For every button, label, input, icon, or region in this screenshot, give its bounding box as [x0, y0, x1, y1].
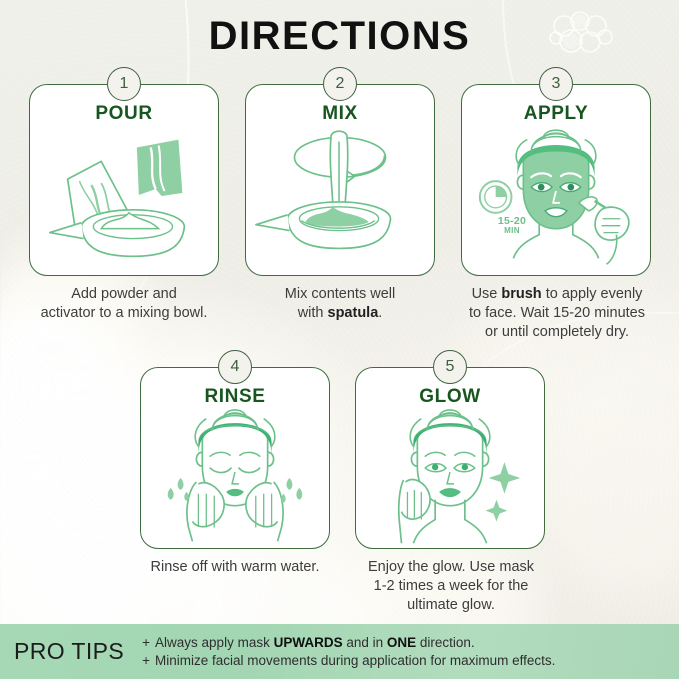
caption-line: Mix contents well — [285, 286, 395, 302]
caption-line: Add powder and — [71, 286, 177, 302]
caption-bold-brush: brush — [501, 286, 541, 302]
plus-icon: + — [142, 635, 150, 650]
step-card-mix[interactable]: MIX — [245, 84, 435, 276]
step-card-apply[interactable]: APPLY — [461, 84, 651, 276]
pour-powder-into-bowl-icon — [30, 123, 218, 263]
step-caption-apply: Use brush to apply evenly to face. Wait … — [451, 285, 663, 342]
step-title-pour: POUR — [30, 103, 218, 125]
tip-bold-upwards: UPWARDS — [274, 635, 343, 650]
step-badge-2: 2 — [323, 67, 357, 101]
step-card-glow[interactable]: GLOW — [355, 367, 545, 549]
pro-tips-bar: PRO TIPS +Always apply mask UPWARDS and … — [0, 624, 679, 679]
caption-line: or until completely dry. — [485, 324, 629, 340]
directions-infographic: DIRECTIONS POUR 1 Add powder and a — [0, 0, 679, 679]
caption-line: to face. Wait 15-20 minutes — [469, 305, 645, 321]
step-badge-3: 3 — [539, 67, 573, 101]
pro-tips-label: PRO TIPS — [14, 638, 124, 665]
step-title-glow: GLOW — [356, 386, 544, 408]
caption-line: Enjoy the glow. Use mask — [368, 559, 534, 575]
caption-line: activator to a mixing bowl. — [41, 305, 208, 321]
timer-badge-icon — [480, 181, 512, 213]
caption-bold-spatula: spatula — [328, 305, 379, 321]
plus-icon: + — [142, 653, 150, 668]
pro-tips-list: +Always apply mask UPWARDS and in ONE di… — [142, 635, 555, 668]
tip-text-middle: and in — [343, 635, 387, 650]
tip-text-suffix: direction. — [416, 635, 475, 650]
pro-tip-item: +Minimize facial movements during applic… — [142, 653, 555, 668]
step-badge-1: 1 — [107, 67, 141, 101]
step-title-rinse: RINSE — [141, 386, 329, 408]
step-card-pour[interactable]: POUR — [29, 84, 219, 276]
step-badge-5: 5 — [433, 350, 467, 384]
step-caption-rinse: Rinse off with warm water. — [130, 558, 340, 577]
step-card-rinse[interactable]: RINSE — [140, 367, 330, 549]
glowing-face-sparkle-icon — [356, 406, 544, 546]
step-caption-pour: Add powder and activator to a mixing bow… — [19, 285, 229, 323]
step-badge-4: 4 — [218, 350, 252, 384]
caption-line: 1-2 times a week for the — [374, 578, 529, 594]
rinse-face-water-icon — [141, 406, 329, 546]
step-caption-mix: Mix contents well with spatula. — [235, 285, 445, 323]
step-caption-glow: Enjoy the glow. Use mask 1-2 times a wee… — [345, 558, 557, 615]
tip-text-prefix: Always apply mask — [155, 635, 274, 650]
timer-unit-label: MIN — [472, 226, 552, 235]
caption-line: ultimate glow. — [407, 597, 495, 613]
pro-tip-item: +Always apply mask UPWARDS and in ONE di… — [142, 635, 555, 650]
page-title: DIRECTIONS — [0, 14, 679, 59]
tip-text-prefix: Minimize facial movements during applica… — [155, 653, 555, 668]
spatula-mixing-bowl-icon — [246, 123, 434, 263]
tip-bold-one: ONE — [387, 635, 416, 650]
face-mask-brush-icon — [462, 123, 650, 268]
step-title-apply: APPLY — [462, 103, 650, 125]
caption-line: Rinse off with warm water. — [151, 559, 320, 575]
step-title-mix: MIX — [246, 103, 434, 125]
